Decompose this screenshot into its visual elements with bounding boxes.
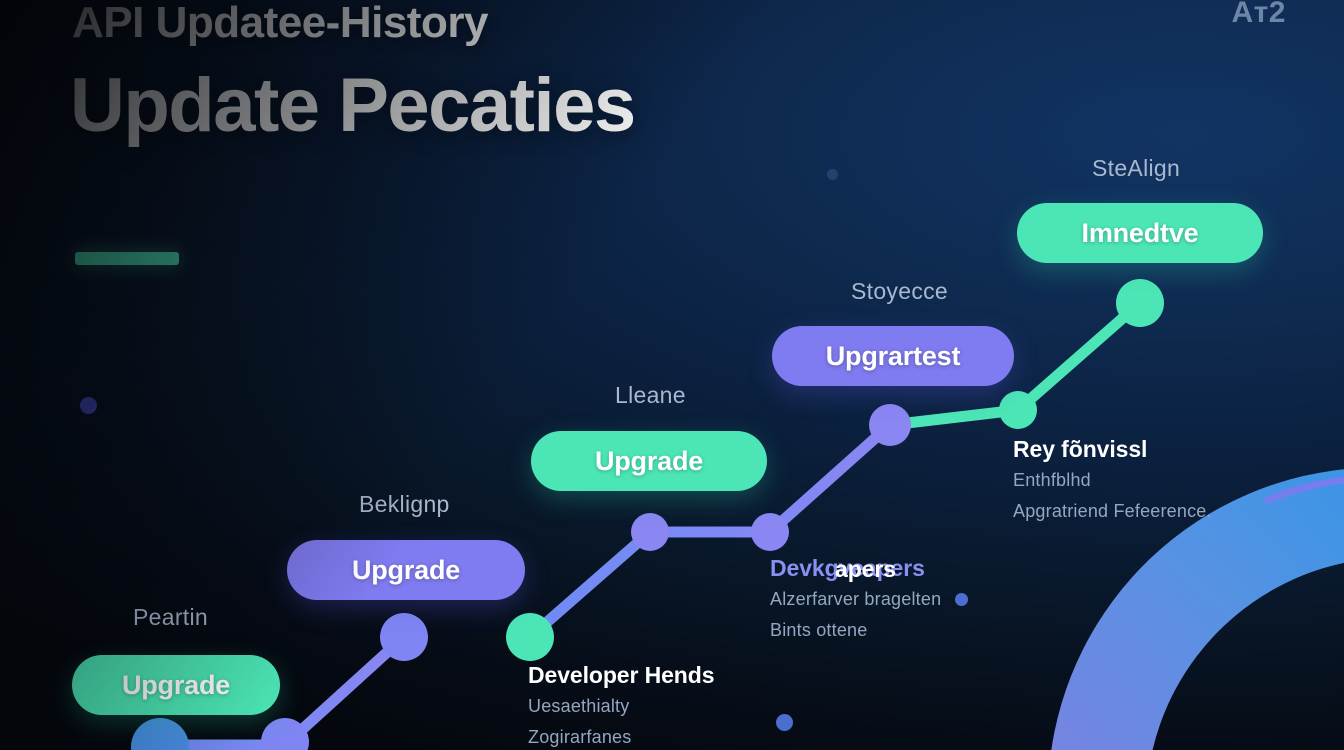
chart-node-3[interactable] — [380, 613, 428, 661]
pill-caption-1: Peartin — [133, 604, 208, 631]
chart-node-4[interactable] — [506, 613, 554, 661]
brand-logo: Aт2 — [1231, 0, 1286, 30]
note-developer-hends: Developer Hends Uesaethialty Zogirarfane… — [528, 663, 714, 750]
pill-caption-5: SteAlign — [1092, 155, 1180, 182]
note-line-1: Enthfblhd — [1013, 467, 1212, 493]
infographic-canvas: API Updatee-History Update Pecaties Aт2 … — [0, 0, 1344, 750]
pill-caption-3: Lleane — [615, 382, 686, 409]
chart-node-5[interactable] — [631, 513, 669, 551]
note-title: Developer Hends — [528, 663, 714, 688]
decor-dot-top — [827, 169, 838, 180]
pill-imnedtve[interactable]: Imnedtve — [1017, 203, 1263, 263]
chart-node-8[interactable] — [999, 391, 1037, 429]
pill-upgrade-1[interactable]: Upgrade — [72, 655, 280, 715]
note-line-2: Apgratriend Fefeerence. — [1013, 498, 1212, 524]
chart-node-7[interactable] — [869, 404, 911, 446]
page-title: Update Pecaties — [70, 62, 635, 149]
page-kicker: API Updatee-History — [72, 0, 488, 48]
pill-caption-4: Stoyecce — [851, 278, 948, 305]
note-title-ghost-overlay: apers — [835, 556, 896, 583]
chart-node-6[interactable] — [751, 513, 789, 551]
pill-upgrartest[interactable]: Upgrartest — [772, 326, 1014, 386]
decor-dot-left — [80, 397, 97, 414]
pill-upgrade-3[interactable]: Upgrade — [531, 431, 767, 491]
chart-node-1[interactable] — [131, 718, 189, 750]
note-rey-fonvissl: Rey fõnvissl Enthfblhd Apgratriend Fefee… — [1013, 437, 1212, 524]
title-accent-bar — [75, 252, 179, 265]
pill-caption-2: Beklignp — [359, 491, 450, 518]
chart-node-9[interactable] — [1116, 279, 1164, 327]
pill-upgrade-2[interactable]: Upgrade — [287, 540, 525, 600]
note-title: Rey fõnvissl — [1013, 437, 1212, 462]
note-line-1: Alzerfarver bragelten — [770, 586, 941, 612]
note-line-2: Zogirarfanes — [528, 724, 714, 750]
decor-dot-mid — [955, 593, 968, 606]
note-line-2: Bints ottene — [770, 617, 941, 643]
decor-dot-bottom — [776, 714, 793, 731]
note-line-1: Uesaethialty — [528, 693, 714, 719]
